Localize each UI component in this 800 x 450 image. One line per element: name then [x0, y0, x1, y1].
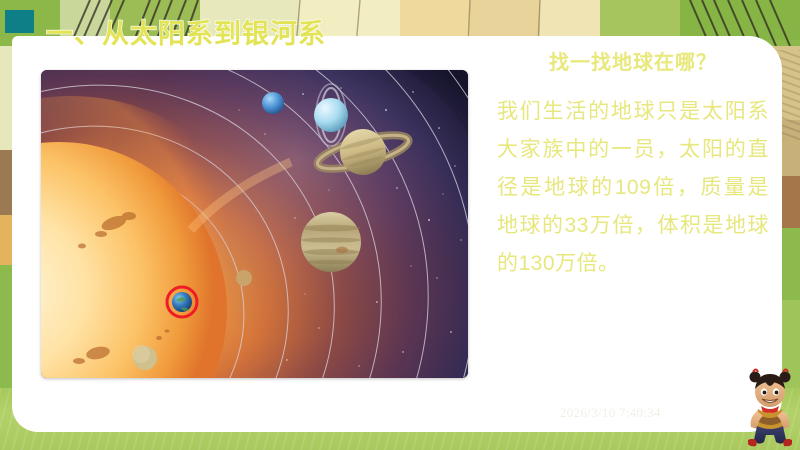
content-body: 我们生活的地球只是太阳系大家族中的一员，太阳的直径是地球的109倍，质量是地球的… — [497, 93, 769, 283]
slide-root: 一、从太阳系到银河系 — [0, 0, 800, 450]
text-column: 找一找地球在哪？ 我们生活的地球只是太阳系大家族中的一员，太阳的直径是地球的10… — [497, 46, 769, 283]
teal-accent-square — [5, 10, 34, 33]
solar-system-image[interactable] — [41, 70, 468, 378]
page-title: 一、从太阳系到银河系 — [46, 12, 326, 51]
timestamp: 2026/3/10 7:40:34 — [560, 405, 661, 421]
mascot-character — [742, 365, 798, 450]
content-heading: 找一找地球在哪？ — [497, 46, 769, 75]
